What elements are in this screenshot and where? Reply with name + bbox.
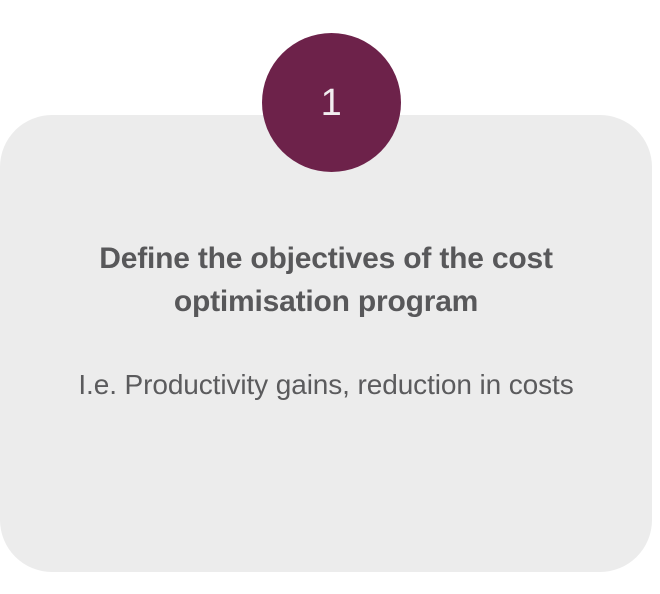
step-description: I.e. Productivity gains, reduction in co… — [0, 363, 652, 407]
step-card: Define the objectives of the cost optimi… — [0, 115, 652, 572]
step-number-badge: 1 — [262, 33, 401, 172]
step-number-label: 1 — [321, 84, 343, 122]
step-card-stage: Define the objectives of the cost optimi… — [0, 0, 660, 594]
step-title: Define the objectives of the cost optimi… — [0, 237, 652, 323]
